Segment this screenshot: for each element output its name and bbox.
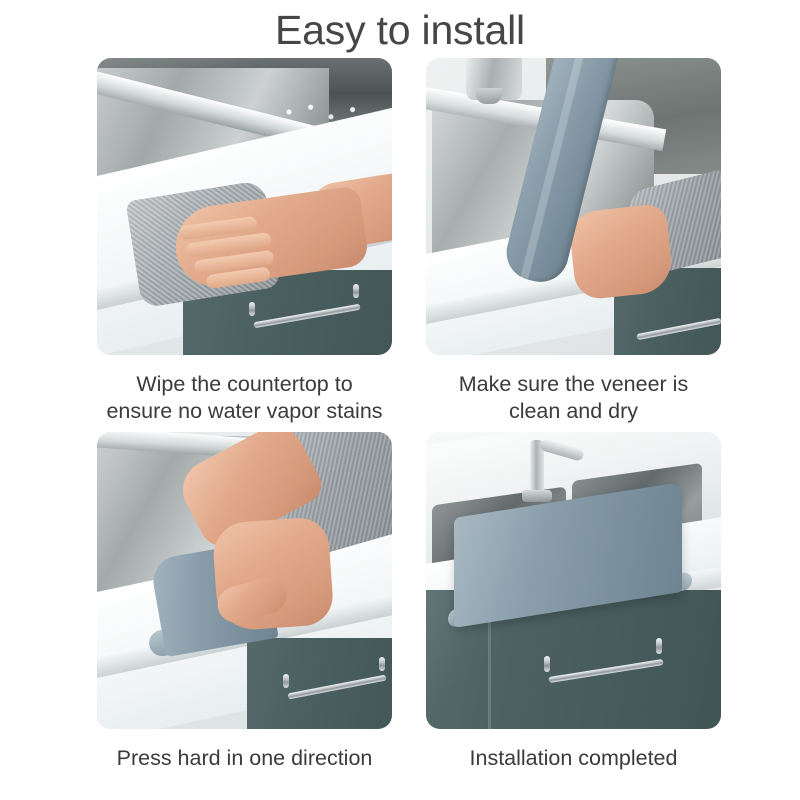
photo-check-veneer xyxy=(426,58,721,355)
caption-line: ensure no water vapor stains xyxy=(97,398,392,425)
step-caption-4: Installation completed xyxy=(426,745,721,772)
step-card-1: Wipe the countertop to ensure no water v… xyxy=(97,58,392,425)
photo-press-strip xyxy=(97,432,392,729)
caption-line: Installation completed xyxy=(426,745,721,772)
steps-grid: Wipe the countertop to ensure no water v… xyxy=(97,58,721,788)
caption-line: Make sure the veneer is xyxy=(426,371,721,398)
hand xyxy=(568,203,675,301)
caption-line: Wipe the countertop to xyxy=(97,371,392,398)
step-card-3: Press hard in one direction xyxy=(97,432,392,772)
step-caption-1: Wipe the countertop to ensure no water v… xyxy=(97,371,392,425)
step-card-4: Installation completed xyxy=(426,432,721,772)
step-caption-3: Press hard in one direction xyxy=(97,745,392,772)
photo-installation-complete xyxy=(426,432,721,729)
step-caption-2: Make sure the veneer is clean and dry xyxy=(426,371,721,425)
product-instruction-infographic: Easy to install xyxy=(0,0,800,800)
photo-wipe-countertop xyxy=(97,58,392,355)
caption-line: clean and dry xyxy=(426,398,721,425)
step-card-2: Make sure the veneer is clean and dry xyxy=(426,58,721,425)
caption-line: Press hard in one direction xyxy=(97,745,392,772)
page-title: Easy to install xyxy=(0,6,800,54)
